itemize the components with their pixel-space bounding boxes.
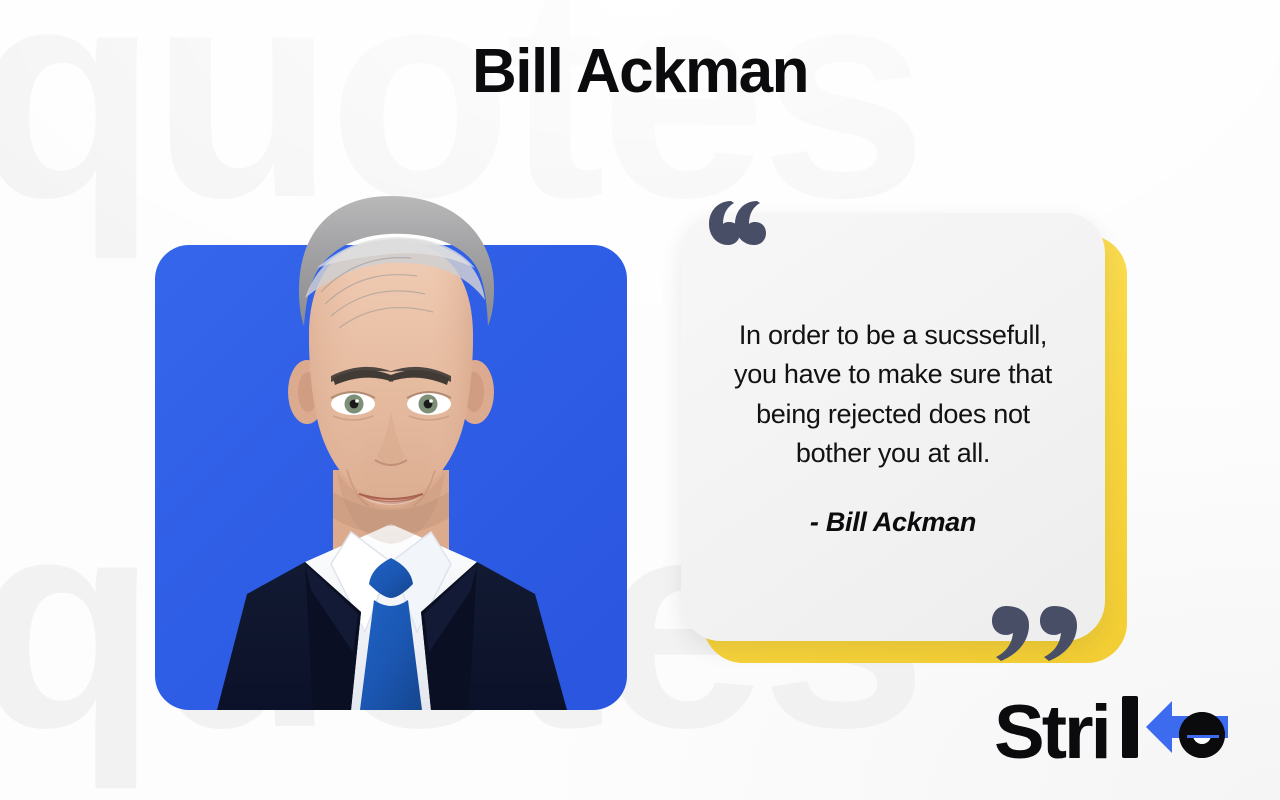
- quote-line: you have to make sure that: [734, 355, 1052, 394]
- quote-line: bother you at all.: [734, 434, 1052, 473]
- quote-line: In order to be a sucssefull,: [734, 316, 1052, 355]
- quote-card: In order to be a sucssefull, you have to…: [681, 213, 1127, 663]
- quote-text: In order to be a sucssefull, you have to…: [734, 316, 1052, 473]
- strike-logo[interactable]: Stri Strike: [996, 694, 1254, 776]
- portrait-photo: [155, 92, 627, 710]
- quote-graphic-canvas: quotes quotes Bill Ackman: [0, 0, 1280, 800]
- close-quote-icon: [992, 604, 1080, 662]
- svg-text:Stri: Stri: [996, 694, 1109, 775]
- open-quote-icon: [708, 199, 766, 247]
- portrait: [155, 92, 627, 710]
- quote-line: being rejected does not: [734, 395, 1052, 434]
- quote-card-surface: In order to be a sucssefull, you have to…: [681, 213, 1105, 641]
- quote-author: - Bill Ackman: [810, 507, 976, 538]
